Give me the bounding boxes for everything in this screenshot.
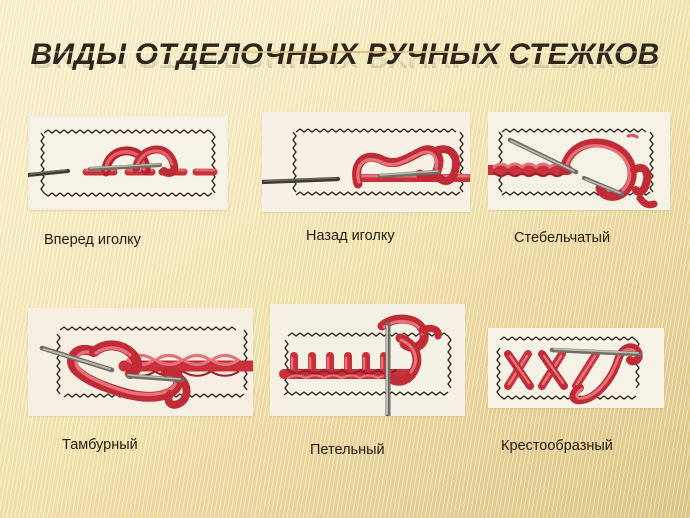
- caption-blanket-stitch: Петельный: [310, 442, 385, 458]
- running-stitch-diagram: [28, 115, 228, 210]
- figure-blanket-stitch: [270, 304, 465, 416]
- caption-chain-stitch: Тамбурный: [62, 437, 138, 453]
- caption-cross-stitch: Крестообразный: [501, 438, 613, 454]
- stem-stitch-diagram: [488, 112, 670, 210]
- figure-cross-stitch: [488, 328, 664, 408]
- slide-canvas: ВИДЫ ОТДЕЛОЧНЫХ РУЧНЫХ СТЕЖКОВ ВИДЫ ОТДЕ…: [0, 0, 690, 518]
- cross-stitch-diagram: [488, 328, 664, 408]
- slide-title-block: ВИДЫ ОТДЕЛОЧНЫХ РУЧНЫХ СТЕЖКОВ ВИДЫ ОТДЕ…: [0, 38, 690, 104]
- caption-back-stitch: Назад иголку: [306, 228, 395, 244]
- title-sheen-divider: [18, 51, 672, 53]
- figure-stem-stitch: [488, 112, 670, 210]
- chain-stitch-diagram: [28, 308, 253, 416]
- blanket-stitch-diagram: [270, 304, 465, 416]
- figure-back-stitch: [262, 112, 470, 212]
- figure-chain-stitch: [28, 308, 253, 416]
- page-title-reflection: ВИДЫ ОТДЕЛОЧНЫХ РУЧНЫХ СТЕЖКОВ: [0, 43, 690, 72]
- back-stitch-diagram: [262, 112, 470, 212]
- figure-running-stitch: [28, 115, 228, 210]
- caption-running-stitch: Вперед иголку: [44, 232, 141, 248]
- caption-stem-stitch: Стебельчатый: [514, 230, 610, 246]
